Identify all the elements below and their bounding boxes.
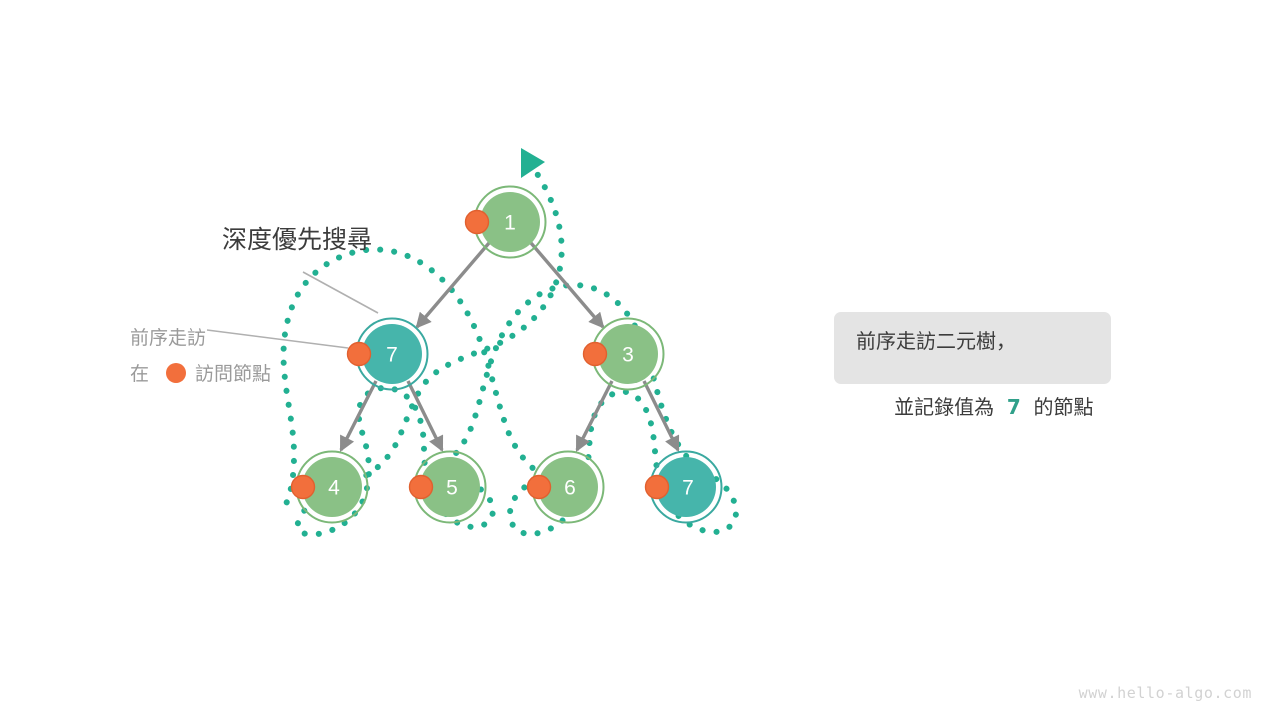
- node-value: 1: [504, 212, 516, 235]
- node-value: 3: [622, 344, 634, 367]
- tree-node-n5[interactable]: 5: [410, 452, 486, 523]
- annotation-subtitle-suffix: 訪問節點: [195, 363, 271, 385]
- visit-dot-icon: [348, 343, 371, 366]
- node-value: 4: [328, 477, 340, 500]
- visit-dot-icon: [410, 476, 433, 499]
- visit-dot-icon: [528, 476, 551, 499]
- tree-node-n2[interactable]: 7: [348, 319, 428, 390]
- node-value: 7: [386, 344, 398, 367]
- info-box-highlight-value: 7: [1007, 395, 1021, 419]
- watermark: www.hello-algo.com: [1079, 684, 1252, 702]
- node-value: 7: [682, 477, 694, 500]
- edge-n3-n7: [644, 381, 678, 450]
- traversal-arrowhead-icon: [521, 148, 545, 178]
- tree-node-n6[interactable]: 6: [528, 452, 604, 523]
- info-box: 前序走訪二元樹， 並記錄值為 7 的節點: [834, 312, 1111, 384]
- visit-dot-icon: [292, 476, 315, 499]
- edge-n2-n5: [408, 381, 442, 450]
- visit-dot-icon: [466, 211, 489, 234]
- node-value: 6: [564, 477, 576, 500]
- tree-node-n7[interactable]: 7: [646, 452, 722, 523]
- annotation-title-leader: [303, 272, 378, 313]
- diagram-canvas: 1 7 3 4: [0, 0, 1280, 720]
- annotation-group: 深度優先搜尋 前序走訪 在 訪問節點: [130, 225, 378, 385]
- annotation-title: 深度優先搜尋: [222, 225, 372, 254]
- annotation-subtitle-leader: [207, 330, 348, 348]
- info-box-line2-suffix: 的節點: [1034, 395, 1094, 419]
- legend-visit-dot-icon: [166, 363, 186, 383]
- visit-dot-icon: [584, 343, 607, 366]
- annotation-subtitle-prefix: 在: [130, 363, 149, 385]
- edge-n3-n6: [577, 381, 612, 450]
- info-box-line2-prefix: 並記錄值為: [894, 395, 994, 419]
- edge-n2-n4: [341, 381, 376, 450]
- node-value: 5: [446, 477, 458, 500]
- edge-n1-n3: [531, 243, 603, 327]
- visit-dot-icon: [646, 476, 669, 499]
- info-box-line2: 並記錄值為 7 的節點: [856, 358, 1089, 457]
- edge-n1-n2: [417, 243, 489, 327]
- annotation-subtitle-line1: 前序走訪: [130, 327, 206, 349]
- info-box-line1: 前序走訪二元樹，: [856, 325, 1089, 358]
